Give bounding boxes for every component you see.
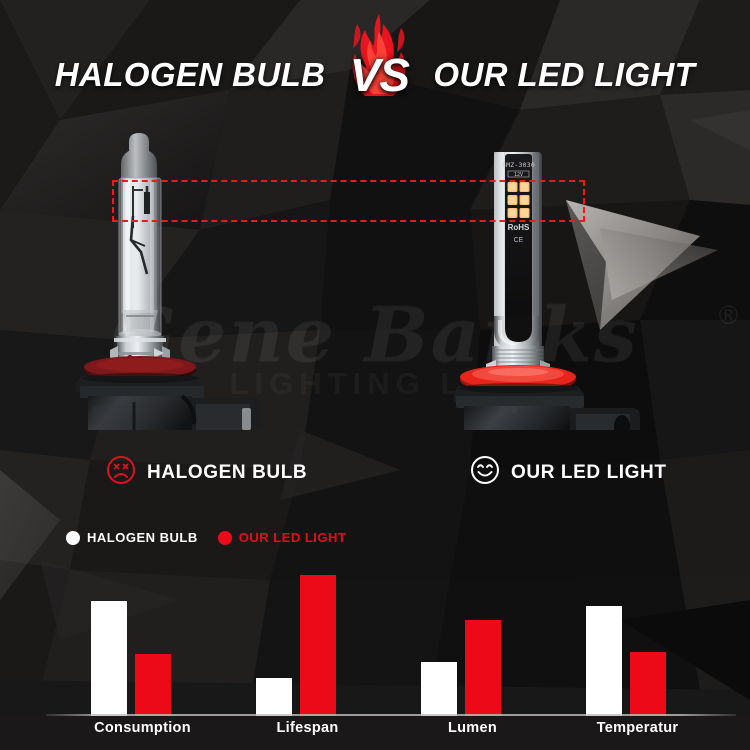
- legend-label-halogen: HALOGEN BULB: [87, 530, 198, 545]
- bar-consumption-led: [135, 654, 171, 716]
- legend-swatch-led: [218, 531, 232, 545]
- svg-text:RoHS: RoHS: [508, 223, 530, 232]
- halogen-bulb-image: [74, 120, 304, 430]
- bar-lumen-halogen: [421, 662, 457, 716]
- header-right-title: OUR LED LIGHT: [433, 56, 695, 94]
- filament-vs-chip-compare-box: [112, 180, 585, 222]
- x-label-lumen: Lumen: [390, 720, 555, 736]
- bar-group-consumption: [60, 556, 225, 716]
- bar-lifespan-halogen: [256, 678, 292, 716]
- chart-x-axis-labels: ConsumptionLifespanLumenTemperatur: [60, 720, 720, 746]
- legend-item-led: OUR LED LIGHT: [218, 530, 347, 545]
- bar-lumen-led: [465, 620, 501, 716]
- header: HALOGEN BULB VS OUR LED LIGHT: [0, 44, 750, 106]
- chart-baseline-axis: [46, 714, 736, 716]
- bar-lifespan-led: [300, 575, 336, 716]
- sad-face-icon: [106, 455, 136, 490]
- led-caption: OUR LED LIGHT: [470, 455, 667, 490]
- x-label-consumption: Consumption: [60, 720, 225, 736]
- svg-text:12V: 12V: [514, 172, 523, 178]
- vs-label: VS: [350, 48, 409, 102]
- bar-group-temperatur: [555, 556, 720, 716]
- header-left-title: HALOGEN BULB: [55, 56, 326, 94]
- infographic-root: Gene Banks LIGHTING LED ® HALOGEN BULB V…: [0, 0, 750, 750]
- smiley-face-icon: [470, 455, 500, 490]
- bar-group-lumen: [390, 556, 555, 716]
- comparison-bar-chart: [60, 556, 720, 716]
- legend-label-led: OUR LED LIGHT: [239, 530, 347, 545]
- svg-text:SMZ-3030: SMZ-3030: [502, 161, 535, 169]
- legend-item-halogen: HALOGEN BULB: [66, 530, 198, 545]
- chart-legend: HALOGEN BULB OUR LED LIGHT: [66, 530, 346, 545]
- x-label-temperatur: Temperatur: [555, 720, 720, 736]
- bar-temperatur-led: [630, 652, 666, 716]
- halogen-caption-label: HALOGEN BULB: [147, 462, 307, 484]
- vs-badge: VS: [325, 27, 433, 123]
- halogen-caption: HALOGEN BULB: [106, 455, 307, 490]
- bar-group-lifespan: [225, 556, 390, 716]
- svg-text:CE: CE: [514, 237, 524, 244]
- bar-temperatur-halogen: [586, 606, 622, 716]
- led-bulb-image: SMZ-3030 12V RoHS CE: [452, 120, 682, 430]
- watermark-registered-icon: ®: [719, 300, 738, 331]
- x-label-lifespan: Lifespan: [225, 720, 390, 736]
- led-caption-label: OUR LED LIGHT: [511, 462, 667, 484]
- legend-swatch-halogen: [66, 531, 80, 545]
- bar-consumption-halogen: [91, 601, 127, 716]
